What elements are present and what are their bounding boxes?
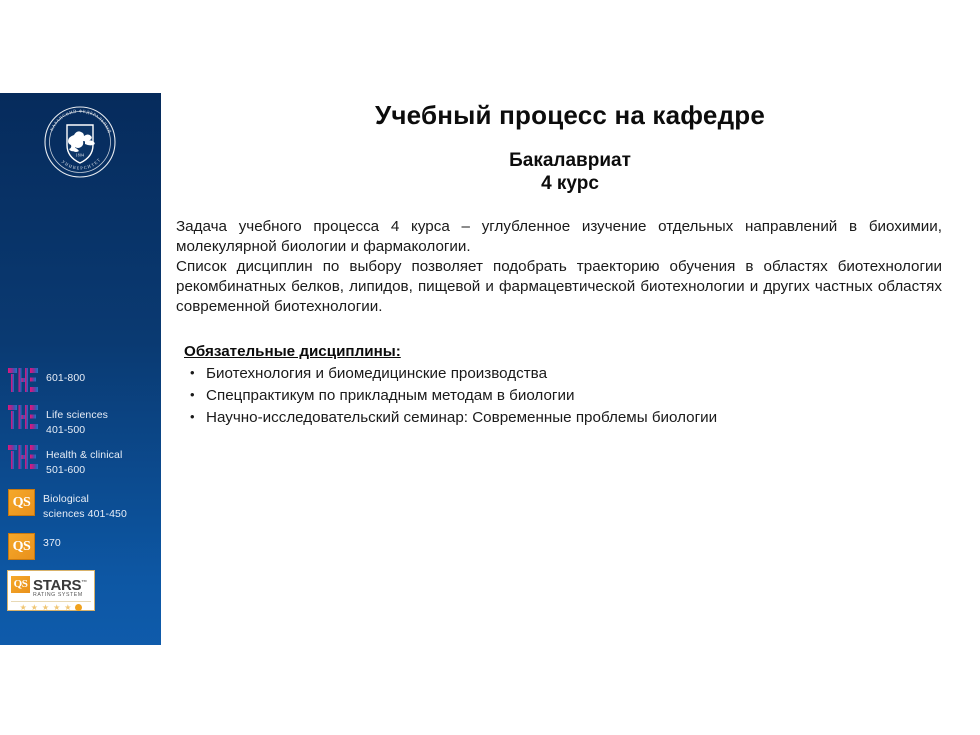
star-icon: ★ bbox=[53, 604, 60, 612]
qs-stars-wordmark: STARS™ bbox=[33, 576, 87, 593]
star-icon: ★ bbox=[64, 604, 71, 612]
paragraph-2: Список дисциплин по выбору позволяет под… bbox=[176, 257, 942, 317]
body-text: Задача учебного процесса 4 курса – углуб… bbox=[176, 217, 942, 317]
spacer bbox=[8, 480, 183, 489]
qs-stars-rating-row: ★ ★ ★ ★ ★ bbox=[11, 601, 91, 613]
sidebar-panel: КАЗАНСКИЙ ФЕДЕРАЛЬНЫЙ УНИВЕРСИТЕТ 1804 bbox=[0, 93, 161, 645]
page-title: Учебный процесс на кафедре bbox=[176, 100, 942, 131]
star-icon: ★ bbox=[31, 604, 38, 612]
qs-stars-logo-text: QS bbox=[11, 576, 30, 593]
qs-stars-badge: QS STARS™ RATING SYSTEM ★ ★ ★ ★ ★ bbox=[7, 570, 95, 611]
ranking-line-1: Health & clinical bbox=[46, 449, 122, 461]
subtitle-block: Бакалавриат 4 курс bbox=[176, 149, 942, 195]
ranking-item: Health & clinical 501-600 bbox=[8, 445, 183, 477]
ranking-item: QS 370 bbox=[8, 533, 183, 560]
qs-logo-icon: QS bbox=[8, 489, 35, 516]
star-icon: ★ bbox=[42, 604, 49, 612]
ranking-line-1: Life sciences bbox=[46, 409, 108, 421]
ranking-label: Life sciences 401-500 bbox=[46, 405, 108, 437]
list-item: Спецпрактикум по прикладным методам в би… bbox=[190, 385, 942, 407]
subtitle-degree: Бакалавриат bbox=[198, 149, 942, 172]
rankings-list: 601-800 Life sciences 401-5 bbox=[8, 368, 183, 563]
the-logo-icon bbox=[8, 405, 38, 430]
ranking-label: Biological sciences 401-450 bbox=[43, 489, 127, 521]
ranking-item: QS Biological sciences 401-450 bbox=[8, 489, 183, 521]
the-logo-icon bbox=[8, 368, 38, 393]
university-emblem-icon: КАЗАНСКИЙ ФЕДЕРАЛЬНЫЙ УНИВЕРСИТЕТ 1804 bbox=[43, 105, 117, 179]
subtitle-year: 4 курс bbox=[198, 172, 942, 195]
list-item: Биотехнология и биомедицинские производс… bbox=[190, 363, 942, 385]
paragraph-1: Задача учебного процесса 4 курса – углуб… bbox=[176, 217, 942, 257]
ranking-line-2: sciences 401-450 bbox=[43, 507, 127, 522]
qs-logo-icon: QS bbox=[8, 533, 35, 560]
ranking-item: 601-800 bbox=[8, 368, 183, 393]
ranking-item: Life sciences 401-500 bbox=[8, 405, 183, 437]
ranking-label: 601-800 bbox=[46, 368, 85, 386]
qs-stars-word: STARS bbox=[33, 577, 81, 594]
ranking-label: 370 bbox=[43, 533, 61, 551]
rating-dot-icon bbox=[75, 604, 82, 611]
ranking-line-1: 370 bbox=[43, 537, 61, 549]
ranking-line-2: 401-500 bbox=[46, 423, 108, 438]
qs-stars-header: QS STARS™ bbox=[11, 574, 91, 594]
required-courses-list: Биотехнология и биомедицинские производс… bbox=[176, 363, 942, 429]
qs-logo-text: QS bbox=[8, 533, 35, 560]
ranking-line-1: Biological bbox=[43, 493, 89, 505]
star-icon: ★ bbox=[20, 604, 27, 612]
qs-stars-subtitle: RATING SYSTEM bbox=[33, 592, 91, 598]
slide-content: Учебный процесс на кафедре Бакалавриат 4… bbox=[176, 100, 942, 429]
spacer bbox=[8, 396, 183, 405]
ranking-line-2: 501-600 bbox=[46, 463, 122, 478]
svg-text:1804: 1804 bbox=[76, 154, 85, 158]
the-logo-icon bbox=[8, 445, 38, 470]
ranking-line-1: 601-800 bbox=[46, 372, 85, 384]
list-item: Научно-исследовательский семинар: Соврем… bbox=[190, 407, 942, 429]
spacer bbox=[8, 524, 183, 533]
required-courses-section: Обязательные дисциплины: Биотехнология и… bbox=[176, 343, 942, 429]
section-heading: Обязательные дисциплины: bbox=[184, 343, 942, 360]
trademark-icon: ™ bbox=[81, 580, 87, 586]
ranking-label: Health & clinical 501-600 bbox=[46, 445, 122, 477]
qs-logo-text: QS bbox=[8, 489, 35, 516]
